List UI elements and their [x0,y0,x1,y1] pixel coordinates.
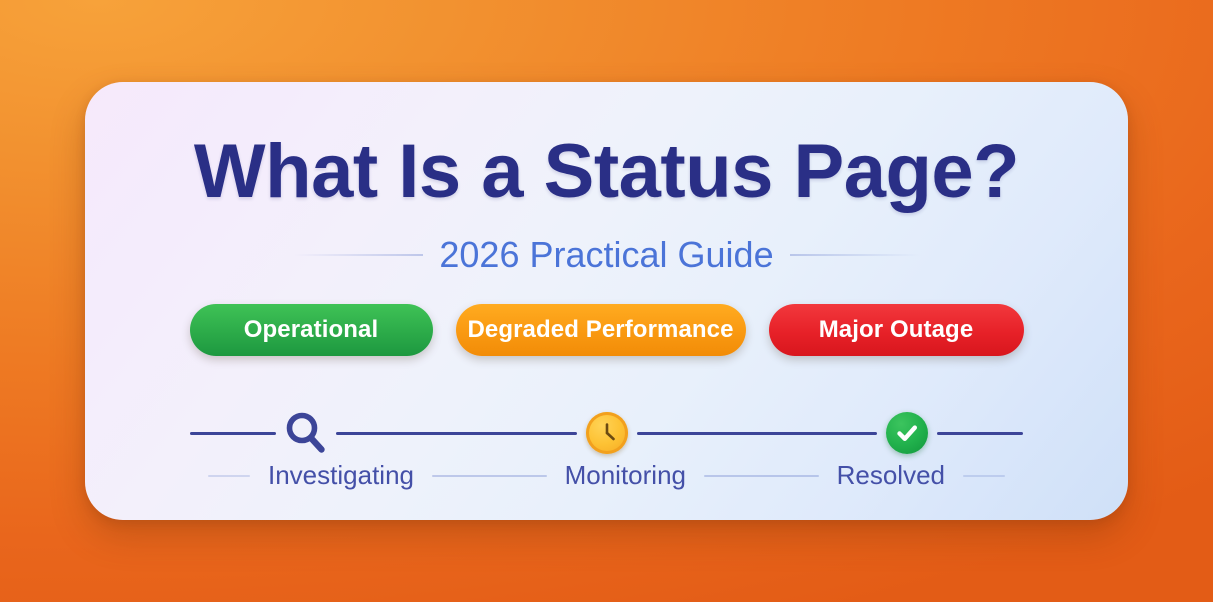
status-badge-degraded-performance[interactable]: Degraded Performance [456,304,746,356]
timeline-connector-end [937,432,1023,435]
status-badge-label: Degraded Performance [467,316,733,344]
status-badge-group: Operational Degraded Performance Major O… [85,304,1128,356]
page-subtitle: 2026 Practical Guide [439,234,773,276]
page-title: What Is a Status Page? [85,134,1128,210]
check-circle-icon [886,412,928,454]
status-badge-label: Major Outage [819,316,974,344]
timeline-labels: Investigating Monitoring Resolved [190,460,1023,491]
timeline-node-investigating[interactable] [276,411,336,455]
timeline-label-monitoring: Monitoring [565,460,686,491]
label-rule-2 [704,475,819,477]
subtitle-rule-left [293,254,423,256]
subtitle-rule-right [790,254,920,256]
label-rule-1 [432,475,547,477]
timeline-label-investigating: Investigating [268,460,414,491]
timeline-label-resolved: Resolved [837,460,945,491]
status-page-card: What Is a Status Page? 2026 Practical Gu… [85,82,1128,520]
timeline-connector-1 [336,432,577,435]
subtitle-row: 2026 Practical Guide [85,234,1128,276]
timeline-node-resolved[interactable] [877,411,937,455]
magnifier-icon [283,410,329,456]
clock-icon [586,412,628,454]
status-badge-major-outage[interactable]: Major Outage [769,304,1024,356]
status-badge-label: Operational [244,316,378,344]
incident-timeline: Investigating Monitoring Resolved [190,382,1023,482]
label-rule-start [208,475,250,477]
timeline-track [190,414,1023,452]
timeline-connector-start [190,432,276,435]
status-badge-operational[interactable]: Operational [190,304,433,356]
timeline-node-monitoring[interactable] [577,411,637,455]
label-rule-end [963,475,1005,477]
timeline-connector-2 [637,432,878,435]
poster-canvas: What Is a Status Page? 2026 Practical Gu… [0,0,1213,602]
